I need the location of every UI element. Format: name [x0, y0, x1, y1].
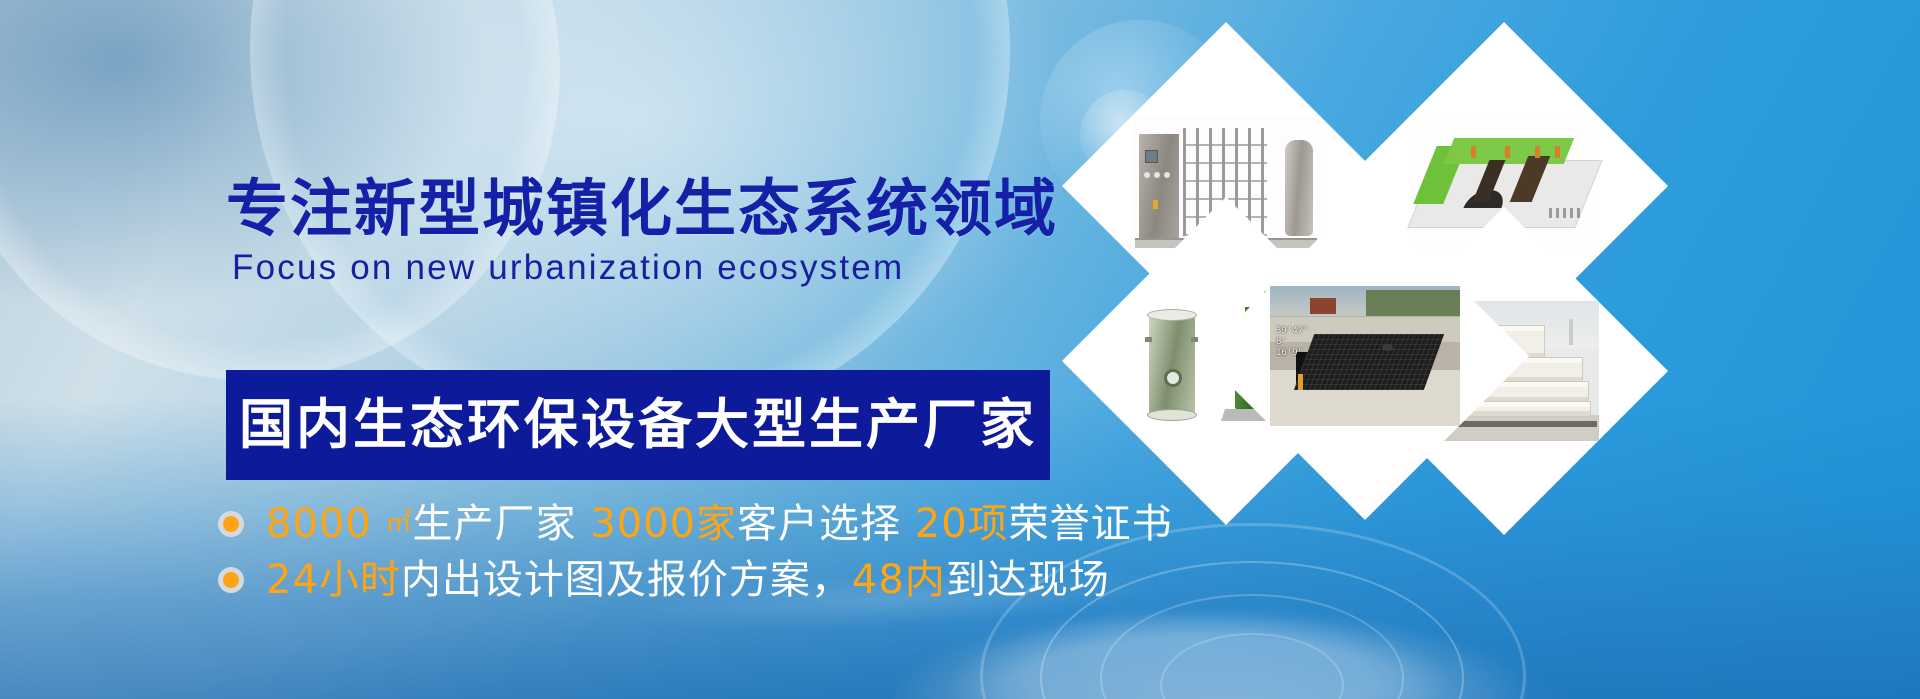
bullet1-number-certs: 20项 — [915, 501, 1009, 547]
bullet2-text-1: 内出设计图及报价方案， — [401, 557, 852, 603]
banner-copy: 专注新型城镇化生态系统领域 Focus on new urbanization … — [0, 0, 1100, 699]
banner-subheadline: Focus on new urbanization ecosystem — [232, 250, 904, 285]
banner-ribbon: 国内生态环保设备大型生产厂家 — [226, 370, 1050, 480]
bullet1-unit: ㎡ — [386, 508, 413, 538]
photo-mbr-black-tank: 39'47"8'16'9" — [1270, 286, 1460, 426]
onsite-dimension-marks: 39'47"8'16'9" — [1276, 326, 1309, 359]
bullet2-text-2: 到达现场 — [946, 557, 1110, 603]
bullet1-text-2: 客户选择 — [737, 501, 915, 547]
list-item: 24小时内出设计图及报价方案，48内到达现场 — [218, 552, 1173, 608]
hero-banner: 专注新型城镇化生态系统领域 Focus on new urbanization … — [0, 0, 1920, 699]
bullet-dot-icon — [218, 511, 244, 537]
banner-ribbon-text: 国内生态环保设备大型生产厂家 — [239, 398, 1037, 452]
list-item: 8000 ㎡生产厂家 3000家客户选择 20项荣誉证书 — [218, 496, 1173, 552]
product-diamond-collage: 39'47"8'16'9" — [1100, 40, 1660, 580]
bullet-dot-icon — [218, 567, 244, 593]
banner-headline: 专注新型城镇化生态系统领域 — [226, 178, 1058, 240]
bullet-text-1: 8000 ㎡生产厂家 3000家客户选择 20项荣誉证书 — [266, 504, 1173, 544]
banner-bullet-list: 8000 ㎡生产厂家 3000家客户选择 20项荣誉证书 24小时内出设计图及报… — [218, 496, 1173, 608]
bullet1-number-area: 8000 — [266, 501, 386, 547]
bullet1-number-clients: 3000家 — [590, 501, 737, 547]
bullet1-text-1: 生产厂家 — [413, 501, 591, 547]
bullet2-number-arrival: 48内 — [852, 557, 946, 603]
bullet2-number-hours: 24小时 — [266, 557, 401, 603]
bullet-text-2: 24小时内出设计图及报价方案，48内到达现场 — [266, 560, 1110, 600]
